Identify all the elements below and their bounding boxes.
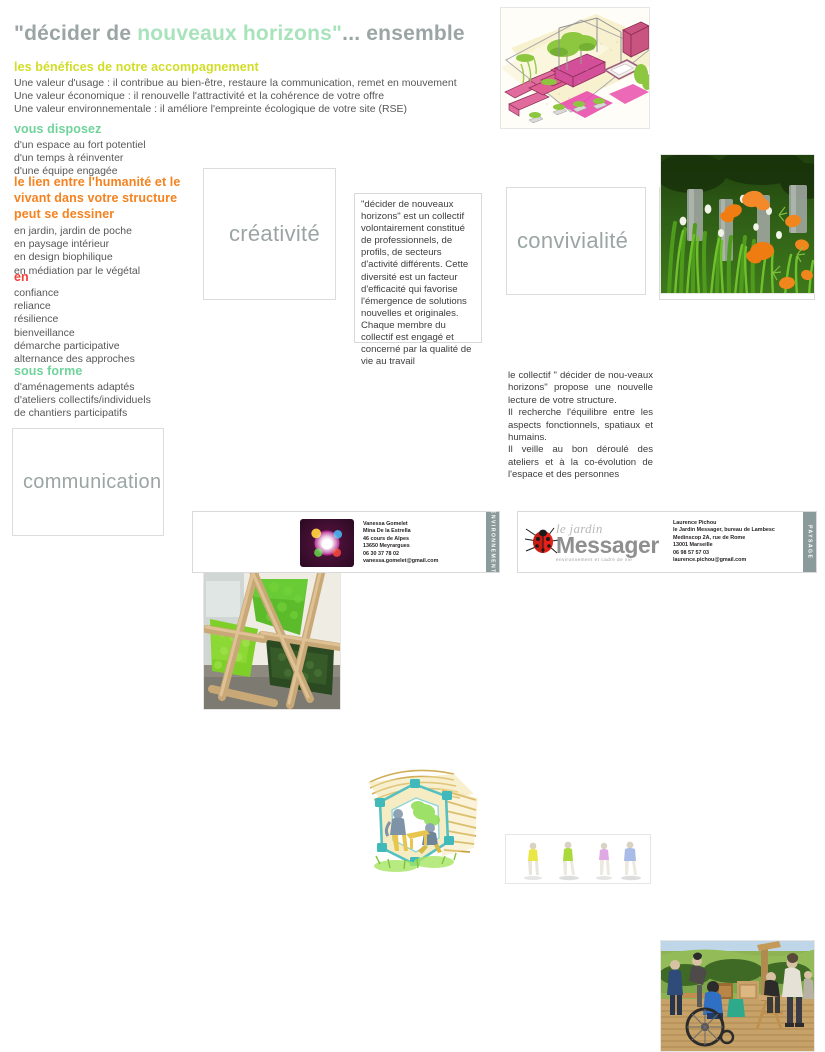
card-contact-name: Vanessa Gomelet <box>363 521 438 528</box>
photo-moss-lattice <box>203 572 341 710</box>
section-heading-sous-forme: sous forme <box>14 364 151 378</box>
page-title-part2: ... ensemble <box>342 22 465 45</box>
card-contact-email[interactable]: laurence.pichou@gmail.com <box>673 557 775 564</box>
photo-poppies-graphic <box>661 155 815 294</box>
card-contact-email[interactable]: vanessa.gomelet@gmail.com <box>363 558 438 565</box>
section-line: démarche participative <box>14 340 135 353</box>
paragraph-line: Il recherche l'équilibre entre les aspec… <box>508 407 653 444</box>
word-box-label: convivialité <box>517 228 628 254</box>
card-contact-phone: 06 30 37 78 02 <box>363 551 438 558</box>
card-contact-city: 13650 Meyrargues <box>363 543 438 550</box>
card-contact-city: 13001 Marseille <box>673 542 775 549</box>
card-contact-name: Laurence Pichou <box>673 520 775 527</box>
poster-page: "décider de nouveaux horizons"... ensemb… <box>0 0 825 583</box>
card-body: Vanessa Gomelet Mina De la Estrella 46 c… <box>193 512 486 572</box>
page-title: "décider de nouveaux horizons"... ensemb… <box>14 22 484 46</box>
section-line: Une valeur économique : il renouvelle l'… <box>14 90 457 103</box>
section-line: en design biophilique <box>14 251 194 264</box>
card-body: le jardin Messager environnement et cadr… <box>518 512 803 572</box>
section-en: en confiance reliance résilience bienvei… <box>14 270 135 366</box>
logo-line-messager: Messager <box>556 532 659 559</box>
section-sous-forme: sous forme d'aménagements adaptés d'atel… <box>14 364 151 421</box>
section-line: en jardin, jardin de poche <box>14 225 194 238</box>
ladybug-icon <box>524 527 560 557</box>
paragraph-line: Il veille au bon déroulé des ateliers et… <box>508 444 653 481</box>
jardin-messager-wordmark: le jardin Messager environnement et cadr… <box>556 521 659 562</box>
card-contact-company: Mina De la Estrella <box>363 528 438 535</box>
section-benefices: les bénéfices de notre accompagnement Un… <box>14 60 457 117</box>
word-box-convivialite: convivialité <box>506 187 646 295</box>
card-contact-street: 46 cours de Alpes <box>363 536 438 543</box>
sketch-hex-pavilion-graphic <box>356 756 486 884</box>
photo-moss-lattice-graphic <box>204 573 341 710</box>
paragraph-collectif-proposition: le collectif " décider de nou-veaux hori… <box>508 370 653 482</box>
sketch-garden-terrace <box>500 7 650 129</box>
sketch-hex-pavilion <box>356 756 486 884</box>
section-line: d'un espace au fort potentiel <box>14 139 146 152</box>
card-side-label: ENVIRONNEMENT <box>490 510 496 574</box>
section-line: en paysage intérieur <box>14 238 194 251</box>
section-line: reliance <box>14 300 135 313</box>
card-contact-lines: Vanessa Gomelet Mina De la Estrella 46 c… <box>363 521 438 565</box>
paragraph-collectif-definition: "décider de nouveaux horizons" est un co… <box>354 193 482 343</box>
card-contact-street: Medinscop 2A, rue de Rome <box>673 535 775 542</box>
card-side-tab-paysage: PAYSAGE <box>803 512 816 572</box>
section-heading-benefices: les bénéfices de notre accompagnement <box>14 60 457 74</box>
word-box-label: communication <box>23 471 161 494</box>
section-vous-disposez: vous disposez d'un espace au fort potent… <box>14 122 146 179</box>
section-heading-vous-disposez: vous disposez <box>14 122 146 136</box>
card-side-label: PAYSAGE <box>807 525 813 559</box>
section-line: bienveillance <box>14 327 135 340</box>
photo-workshop-deck-graphic <box>661 941 815 1052</box>
card-contact-phone: 06 98 57 57 03 <box>673 550 775 557</box>
section-line: Une valeur environnementale : il amélior… <box>14 103 457 116</box>
section-line: Une valeur d'usage : il contribue au bie… <box>14 77 457 90</box>
page-title-highlight: nouveaux horizons" <box>137 22 342 45</box>
word-box-creativite: créativité <box>203 168 336 300</box>
section-line: confiance <box>14 287 135 300</box>
card-jardin-messager: le jardin Messager environnement et cadr… <box>517 511 817 573</box>
section-line: résilience <box>14 313 135 326</box>
card-side-tab-environnement: ENVIRONNEMENT <box>486 512 499 572</box>
page-title-part1: "décider de <box>14 22 137 45</box>
card-mina-de-la-estrella: Vanessa Gomelet Mina De la Estrella 46 c… <box>192 511 500 573</box>
section-lien: le lien entre l'humanité et le vivant da… <box>14 174 194 278</box>
sketch-garden-terrace-graphic <box>501 8 650 129</box>
card-contact-office: le Jardin Messager, bureau de Lambesc <box>673 527 775 534</box>
section-heading-en: en <box>14 270 135 284</box>
sketch-four-figures <box>505 834 651 884</box>
section-line: d'un temps à réinventer <box>14 152 146 165</box>
section-line: d'ateliers collectifs/individuels <box>14 394 151 407</box>
photo-poppies <box>660 154 815 294</box>
section-line: d'aménagements adaptés <box>14 381 151 394</box>
paragraph-text: "décider de nouveaux horizons" est un co… <box>361 199 471 367</box>
word-box-label: créativité <box>229 221 320 247</box>
word-box-communication: communication <box>12 428 164 536</box>
photo-workshop-deck <box>660 940 815 1052</box>
sketch-four-figures-graphic <box>506 835 651 884</box>
section-line: de chantiers participatifs <box>14 407 151 420</box>
card-contact-lines: Laurence Pichou le Jardin Messager, bure… <box>673 520 775 564</box>
paragraph-line: le collectif " décider de nou-veaux hori… <box>508 370 653 407</box>
mina-de-la-estrella-logo <box>300 519 354 567</box>
section-heading-lien: le lien entre l'humanité et le vivant da… <box>14 174 194 222</box>
